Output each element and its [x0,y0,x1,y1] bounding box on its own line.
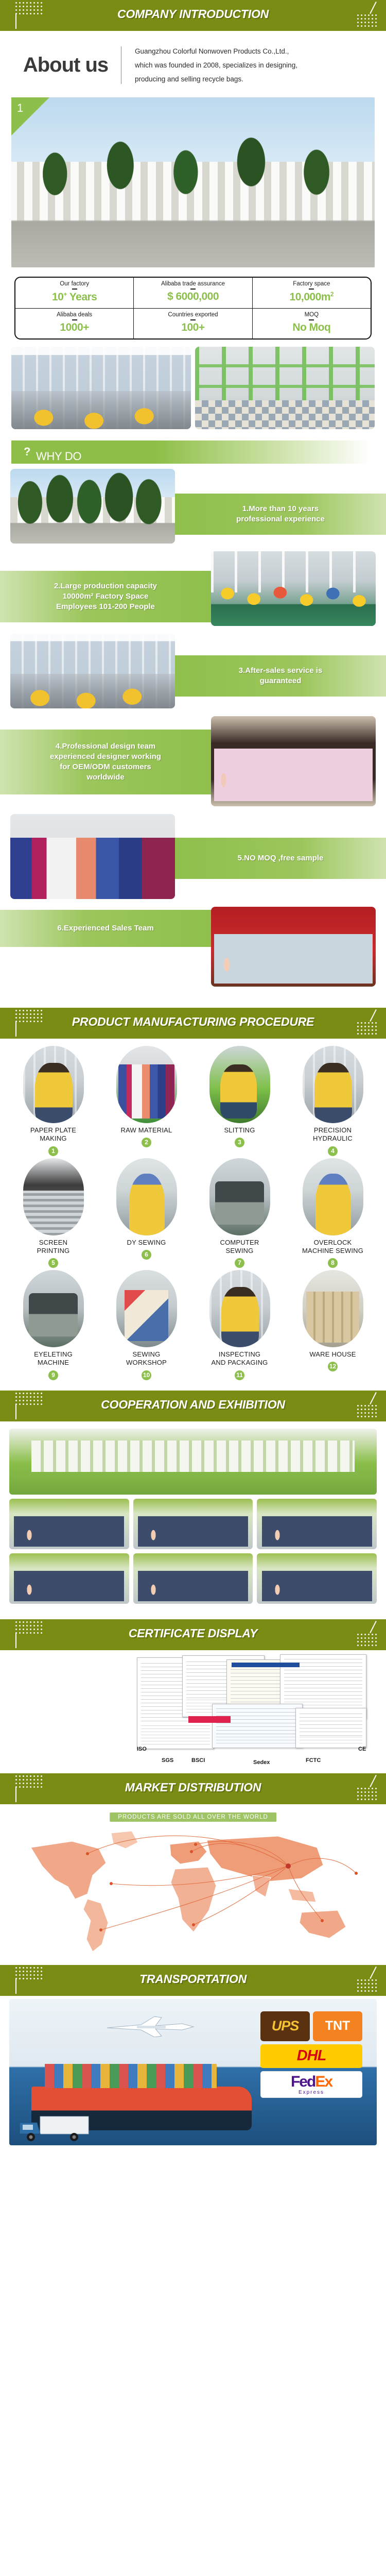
dot-pattern-icon [357,1405,379,1419]
certificate-red-band [188,1716,231,1723]
fedex-logo: FedEx Express [260,2071,362,2098]
section-banner-procedure: PRODUCT MANUFACTURING PROCEDURE [0,1008,386,1039]
step-photo-paper-plate-making [23,1046,84,1123]
why-row-1: 1.More than 10 years professional experi… [0,464,386,546]
dot-pattern-icon [357,14,379,29]
step-name: DY SEWING [100,1239,192,1247]
step-photo-overlock-machine-sewing [303,1158,363,1235]
stat-dash-decoration [190,289,196,290]
why-item-label-5: 5.NO MOQ ,free sample [175,838,386,879]
certificate-document [295,1708,366,1748]
step-name: PAPER PLATE MAKING [7,1126,99,1143]
dot-pattern-icon [357,1788,379,1802]
map-region-south-america [83,1899,108,1952]
section-title-procedure: PRODUCT MANUFACTURING PROCEDURE [0,1015,386,1029]
dot-pattern-icon [357,1022,379,1037]
world-map: PRODUCTS ARE SOLD ALL OVER THE WORLD [10,1810,376,1965]
step-photo-eyeleting-machine [23,1270,84,1347]
map-region-southeast-asia [288,1889,316,1902]
section-banner-cooperation: COOPERATION AND EXHIBITION [0,1391,386,1421]
stat-value: 100+ [136,321,250,334]
step-number: 2 [142,1138,151,1147]
stat-cell-trade-assurance: Alibaba trade assurance $ 6000,000 [133,278,252,308]
certificate-document [212,1704,303,1748]
stat-label: MOQ [255,312,369,318]
factory-exterior-photo [11,97,375,267]
exhibition-photo [133,1553,253,1604]
why-row-6: 6.Experienced Sales Team [0,902,386,989]
step-photo-ware-house [303,1270,363,1347]
step-photo-inspecting-and-packaging [209,1270,270,1347]
step-name: SEWING WORKSHOP [100,1350,192,1367]
step-name: PRECISION HYDRAULIC [287,1126,379,1143]
section-banner-company-introduction: COMPANY INTRODUCTION [0,0,386,31]
stat-value-number: 10,000m [290,291,330,303]
why-item-label-1: 1.More than 10 years professional experi… [175,494,386,535]
step-number: 11 [235,1370,244,1380]
why-item-label-2: 2.Large production capacity 10000m² Fact… [0,571,211,622]
why-row-3: 3.After-sales service is guaranteed [0,629,386,711]
step-photo-screen-printing [23,1158,84,1235]
map-region-europe [170,1841,207,1864]
step-name: OVERLOCK MACHINE SEWING [287,1239,379,1256]
step-name: RAW MATERIAL [100,1126,192,1134]
stat-value-number: 10 [52,291,63,303]
fedex-fed-text: Fed [291,2073,315,2090]
step-number: 3 [235,1138,244,1147]
stat-value: No Moq [255,321,369,334]
dot-pattern-icon [357,1979,379,1994]
step-name: SLITTING [194,1126,286,1134]
step-photo-raw-material [116,1046,177,1123]
certificate-label-ce: CE [358,1746,366,1752]
stat-label: Our factory [17,281,131,287]
exhibition-photo [257,1553,377,1604]
tnt-logo: TNT [313,2011,362,2041]
stat-label: Countries exported [136,312,250,318]
company-stats-table: Our factory 10+ Years Alibaba trade assu… [14,277,372,340]
why-choose-question-mark: ? [24,445,30,458]
map-region-australia [300,1910,346,1938]
step-photo-slitting [209,1046,270,1123]
courier-logo-row: FedEx Express [260,2071,369,2098]
step-number: 8 [328,1258,338,1268]
map-region-asia [207,1836,323,1882]
exhibition-photo [257,1499,377,1549]
courier-logo-row: DHL [260,2044,369,2068]
certificate-label-sedex: Sedex [253,1759,270,1766]
stat-label: Factory space [255,281,369,287]
why-row-4: 4.Professional design team experienced d… [0,711,386,809]
showroom-photo [195,347,375,429]
procedure-step: SLITTING 3 [194,1046,286,1156]
about-us-title: About us [10,54,121,77]
step-photo-sewing-workshop [116,1270,177,1347]
section-title-transportation: TRANSPORTATION [0,1972,386,1986]
procedure-step: OVERLOCK MACHINE SEWING 8 [287,1158,379,1268]
map-region-africa [171,1867,216,1932]
procedure-step: RAW MATERIAL 2 [100,1046,192,1156]
stat-cell-countries-exported: Countries exported 100+ [133,309,252,338]
fedex-subtitle: Express [299,2090,324,2095]
section-title-cooperation: COOPERATION AND EXHIBITION [0,1398,386,1412]
certificate-stack: ISO SGS BSCI CE Sedex FCTC [126,1654,373,1750]
exhibition-photo [9,1553,129,1604]
certificate-label-bsci: BSCI [191,1757,205,1764]
section-title-market: MARKET DISTRIBUTION [0,1781,386,1794]
why-item-label-3: 3.After-sales service is guaranteed [175,655,386,697]
stat-cell-alibaba-deals: Alibaba deals 1000+ [15,309,133,338]
ups-logo: UPS [260,2011,310,2041]
catalog-page: COMPANY INTRODUCTION About us Guangzhou … [0,0,386,2150]
procedure-step: PAPER PLATE MAKING 1 [7,1046,99,1156]
procedure-step: SEWING WORKSHOP 10 [100,1270,192,1380]
stat-cell-moq: MOQ No Moq [252,309,371,338]
stat-label: Alibaba trade assurance [136,281,250,287]
courier-logo-row: UPS TNT [260,2011,369,2041]
exhibition-photo [133,1499,253,1549]
procedure-step: SCREEN PRINTING 5 [7,1158,99,1268]
step-number: 9 [48,1370,58,1380]
about-us-block: About us Guangzhou Colorful Nonwoven Pro… [0,31,386,95]
why-row-2: 2.Large production capacity 10000m² Fact… [0,546,386,629]
stat-dash-decoration [309,289,314,290]
transportation-scene: UPS TNT DHL FedEx Express [9,1999,377,2145]
about-line-1: Guangzhou Colorful Nonwoven Products Co.… [135,44,297,58]
step-number: 1 [48,1146,58,1156]
airplane-icon [105,2013,198,2037]
step-number: 6 [142,1250,151,1260]
transportation-block: UPS TNT DHL FedEx Express [0,1996,386,2150]
step-name: SCREEN PRINTING [7,1239,99,1256]
step-photo-precision-hydraulic [303,1046,363,1123]
section-banner-certificate: CERTIFICATE DISPLAY [0,1619,386,1650]
section-banner-market: MARKET DISTRIBUTION [0,1773,386,1804]
stat-dash-decoration [72,319,77,320]
office-team-photo [10,634,175,708]
certificate-display-block: ISO SGS BSCI CE Sedex FCTC [0,1650,386,1766]
why-item-label-4: 4.Professional design team experienced d… [0,730,211,794]
factory-building-photo [10,469,175,544]
stat-dash-decoration [309,319,314,320]
fedex-ex-text: Ex [315,2073,332,2090]
procedure-step: INSPECTING AND PACKAGING 11 [194,1270,286,1380]
production-floor-photo [211,551,376,626]
cooperation-photo-row [9,1553,377,1604]
stat-cell-factory-space: Factory space 10,000m2 [252,278,371,308]
stat-value: 1000+ [17,321,131,334]
step-number: 7 [235,1258,244,1268]
fedex-wordmark: FedEx [291,2073,332,2091]
step-name: COMPUTER SEWING [194,1239,286,1256]
fabric-rolls-photo [10,814,175,899]
cooperation-photo-grid [0,1421,386,1606]
procedure-step: DY SEWING 6 [100,1158,192,1268]
manufacturing-procedure-grid: PAPER PLATE MAKING 1 RAW MATERIAL 2 SLIT… [0,1039,386,1383]
exhibition-photo [9,1499,129,1549]
about-us-paragraph: Guangzhou Colorful Nonwoven Products Co.… [121,44,297,86]
procedure-step: COMPUTER SEWING 7 [194,1158,286,1268]
map-origin-marker-china [286,1863,291,1869]
step-number: 4 [328,1146,338,1156]
world-map-svg [10,1822,376,1963]
procedure-step: PRECISION HYDRAULIC 4 [287,1046,379,1156]
about-line-3: producing and selling recycle bags. [135,72,297,86]
map-region-north-america [31,1841,106,1899]
market-headline: PRODUCTS ARE SOLD ALL OVER THE WORLD [110,1812,276,1822]
office-photo [11,347,191,429]
stat-dash-decoration [190,319,196,320]
dhl-logo: DHL [260,2044,362,2068]
stat-value: 10+ Years [17,291,131,303]
exhibition-booth-photo [9,1429,377,1495]
stat-value-sup: 2 [330,291,334,298]
sales-team-photo [211,907,376,987]
step-name: INSPECTING AND PACKAGING [194,1350,286,1367]
section-banner-why-choose-us: WHY DO YOU CHOOSE US ? [11,440,371,464]
certificate-label-iso: ISO [137,1746,147,1752]
stat-value: $ 6000,000 [136,291,250,303]
procedure-step: WARE HOUSE 12 [287,1270,379,1380]
step-name: WARE HOUSE [287,1350,379,1359]
market-distribution-block: PRODUCTS ARE SOLD ALL OVER THE WORLD [0,1804,386,1965]
section-banner-transportation: TRANSPORTATION [0,1965,386,1996]
stat-label: Alibaba deals [17,312,131,318]
section-title-company-introduction: COMPANY INTRODUCTION [0,7,386,21]
stat-dash-decoration [72,289,77,290]
stats-row: Alibaba deals 1000+ Countries exported 1… [15,308,371,338]
stat-value-tail: Years [67,291,97,303]
stat-cell-our-factory: Our factory 10+ Years [15,278,133,308]
section-title-why-choose-us: WHY DO YOU CHOOSE US ? [24,445,30,459]
photo-number-badge-label: 1 [17,101,23,115]
dot-pattern-icon [357,1634,379,1648]
step-name: EYELETING MACHINE [7,1350,99,1367]
stats-row: Our factory 10+ Years Alibaba trade assu… [15,278,371,308]
procedure-step: EYELETING MACHINE 9 [7,1270,99,1380]
step-number: 10 [142,1370,151,1380]
section-title-certificate: CERTIFICATE DISPLAY [0,1626,386,1640]
why-item-label-6: 6.Experienced Sales Team [0,910,211,947]
design-team-group-photo [211,716,376,806]
map-region-greenland [111,1831,138,1849]
about-line-2: which was founded in 2008, specializes i… [135,58,297,72]
certificate-label-sgs: SGS [162,1757,173,1764]
step-number: 5 [48,1258,58,1268]
certificate-title-band [232,1663,300,1667]
step-photo-dy-sewing [116,1158,177,1235]
step-number: 12 [328,1362,338,1371]
stat-value: 10,000m2 [255,291,369,303]
certificate-label-fctc: FCTC [306,1757,321,1764]
why-choose-us-list: 1.More than 10 years professional experi… [0,464,386,994]
cooperation-photo-row [9,1499,377,1549]
step-photo-computer-sewing [209,1158,270,1235]
why-row-5: 5.NO MOQ ,free sample [0,809,386,902]
delivery-truck-icon [16,2110,94,2142]
courier-logo-group: UPS TNT DHL FedEx Express [260,2011,369,2101]
